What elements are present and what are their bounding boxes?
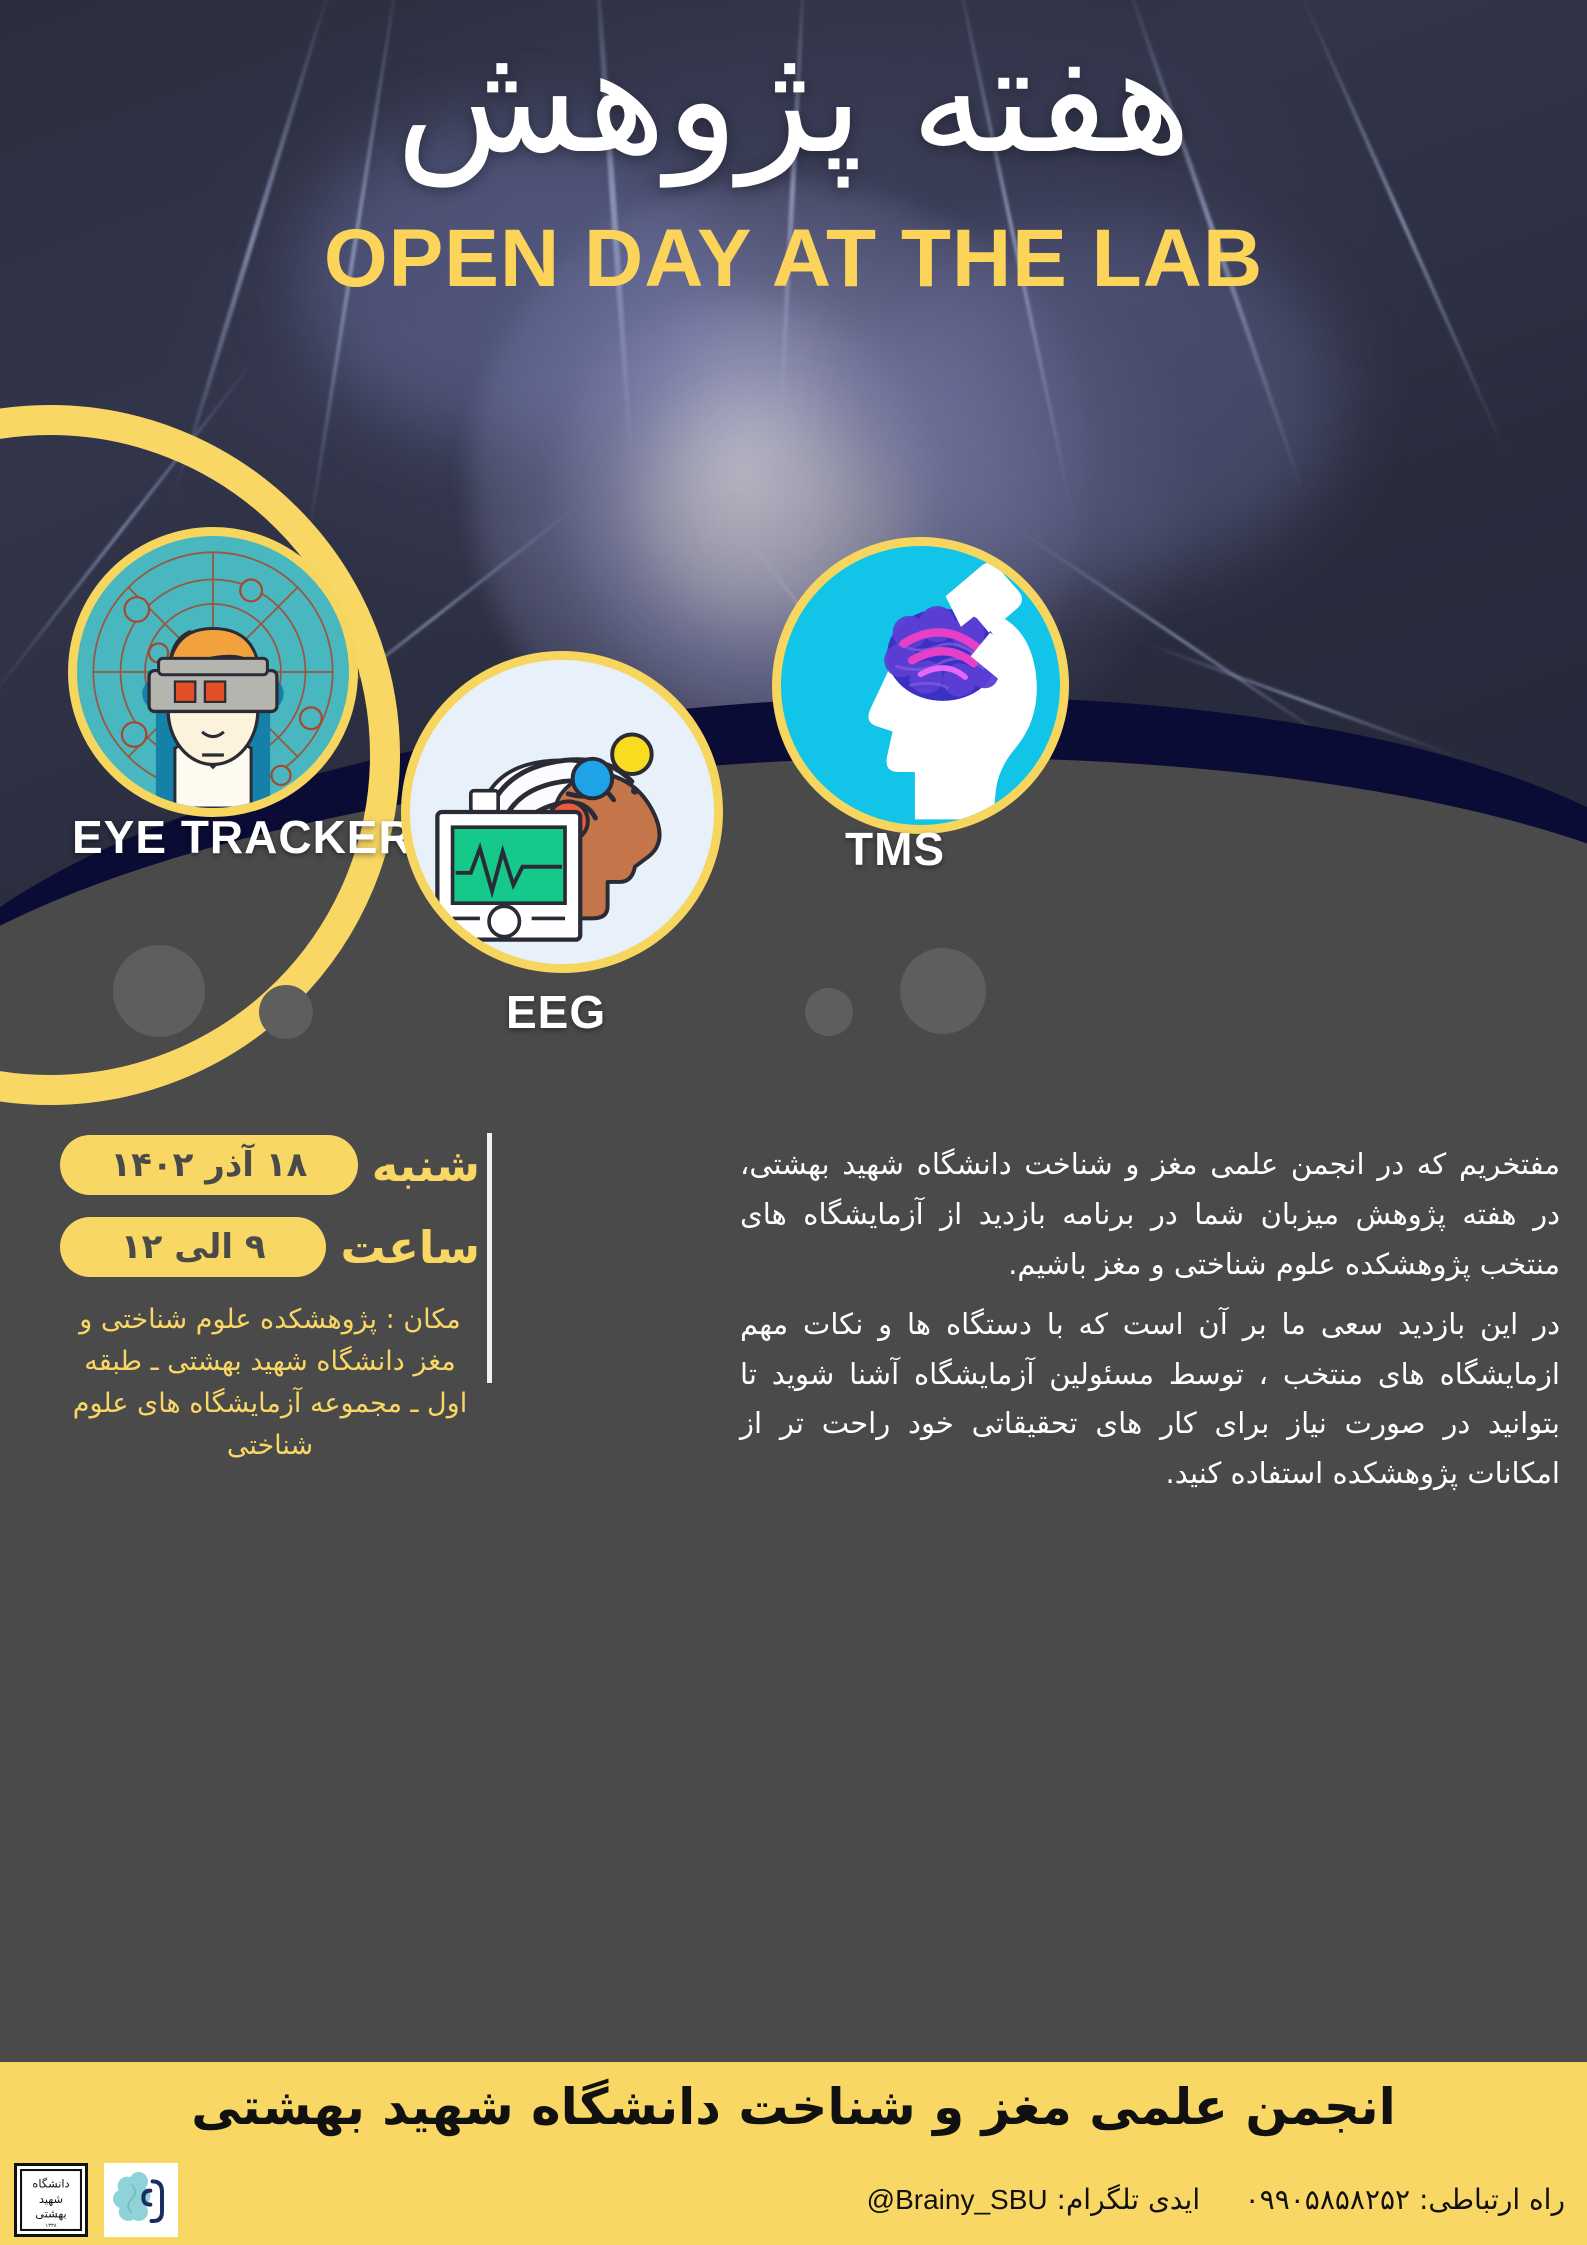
event-place-text: مکان : پژوهشکده علوم شناختی و مغز دانشگا… <box>60 1299 480 1466</box>
tms-icon <box>781 546 1060 825</box>
event-details-block: شنبه ۱۸ آذر ۱۴۰۲ ساعت ۹ الی ۱۲ مکان : پژ… <box>60 1135 480 1466</box>
eye-tracker-icon <box>77 536 349 808</box>
footer-telegram-label: ایدی تلگرام: <box>1057 2183 1201 2216</box>
footer-telegram-handle[interactable]: @Brainy_SBU <box>867 2184 1048 2216</box>
event-date-pill: ۱۸ آذر ۱۴۰۲ <box>60 1135 358 1195</box>
brain-logo-icon <box>106 2165 176 2235</box>
sbu-crest-icon: دانشگاه شهید بهشتی ۱۳۳۸ <box>20 2169 82 2231</box>
footer-organization-title: انجمن علمی مغز و شناخت دانشگاه شهید بهشت… <box>0 2078 1587 2136</box>
decor-dot-3 <box>805 988 853 1036</box>
event-date-row: شنبه ۱۸ آذر ۱۴۰۲ <box>60 1135 480 1195</box>
svg-text:بهشتی: بهشتی <box>35 2207 66 2221</box>
modality-label-eye-tracker: EYE TRACKER <box>72 810 413 864</box>
decor-dot-2 <box>259 985 313 1039</box>
event-time-pill: ۹ الی ۱۲ <box>60 1217 326 1277</box>
modality-label-eeg: EEG <box>506 985 606 1039</box>
poster-root: هفته پژوهش OPEN DAY AT THE LAB <box>0 0 1587 2245</box>
eeg-icon <box>410 660 714 964</box>
event-day-label: شنبه <box>372 1139 480 1192</box>
svg-text:شهید: شهید <box>39 2192 63 2206</box>
event-time-row: ساعت ۹ الی ۱۲ <box>60 1217 480 1277</box>
footer-phone: ۰۹۹۰۵۸۵۸۲۵۲ <box>1245 2183 1410 2216</box>
shahid-beheshti-university-logo: دانشگاه شهید بهشتی ۱۳۳۸ <box>14 2163 88 2237</box>
modality-circle-tms[interactable] <box>772 537 1069 834</box>
modality-circle-eye-tracker[interactable] <box>68 527 358 817</box>
decor-dot-4 <box>900 948 986 1034</box>
decor-dot-1 <box>113 945 205 1037</box>
description-paragraph-2: در این بازدید سعی ما بر آن است که با دست… <box>740 1300 1560 1500</box>
description-block: مفتخریم که در انجمن علمی مغز و شناخت دان… <box>740 1140 1560 1503</box>
page-title-farsi: هفته پژوهش <box>0 22 1587 180</box>
svg-text:دانشگاه: دانشگاه <box>32 2177 69 2191</box>
modality-circle-eeg[interactable] <box>401 651 723 973</box>
footer-contact-label: راه ارتباطی: <box>1419 2183 1565 2216</box>
event-time-label: ساعت <box>340 1221 480 1274</box>
description-paragraph-1: مفتخریم که در انجمن علمی مغز و شناخت دان… <box>740 1140 1560 1290</box>
info-divider <box>487 1133 492 1383</box>
footer-contact-line: راه ارتباطی: ۰۹۹۰۵۸۵۸۲۵۲ ایدی تلگرام: @B… <box>867 2183 1565 2216</box>
brain-association-logo <box>104 2163 178 2237</box>
svg-text:۱۳۳۸: ۱۳۳۸ <box>45 2223 56 2229</box>
modality-label-tms: TMS <box>845 822 945 876</box>
page-title-english: OPEN DAY AT THE LAB <box>0 218 1587 300</box>
